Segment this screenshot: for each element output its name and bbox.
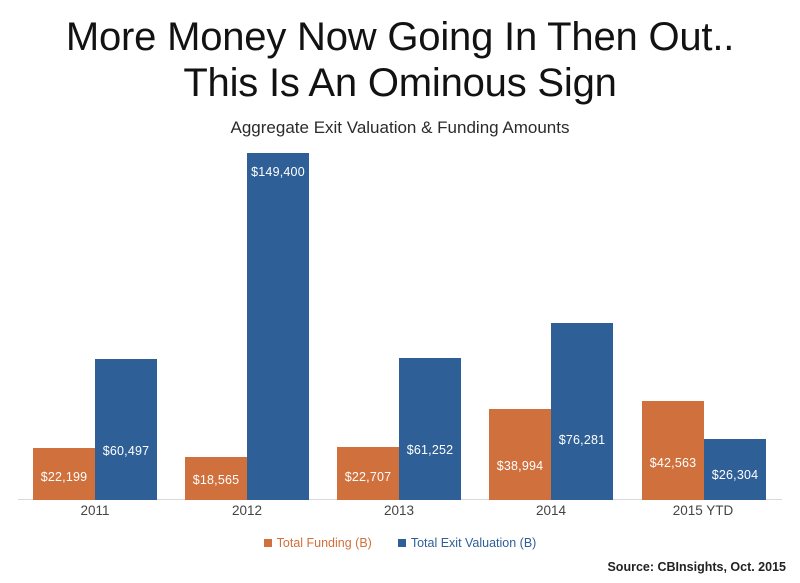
bar-group: $22,707$61,252 bbox=[337, 153, 461, 500]
bar-funding-2015-YTD[interactable]: $42,563 bbox=[642, 401, 704, 500]
bar-value-label: $38,994 bbox=[489, 459, 551, 473]
bar-value-label: $26,304 bbox=[704, 468, 766, 482]
legend-swatch-icon bbox=[398, 539, 406, 547]
x-axis-label-2014: 2014 bbox=[491, 503, 611, 518]
title-line-2: This Is An Ominous Sign bbox=[0, 60, 800, 106]
bar-funding-2014[interactable]: $38,994 bbox=[489, 409, 551, 500]
title-line-1: More Money Now Going In Then Out.. bbox=[0, 14, 800, 60]
bar-exit-2014[interactable]: $76,281 bbox=[551, 323, 613, 500]
bar-funding-2013[interactable]: $22,707 bbox=[337, 447, 399, 500]
legend-label: Total Funding (B) bbox=[277, 536, 372, 550]
bar-value-label: $22,707 bbox=[337, 470, 399, 484]
chart-subtitle: Aggregate Exit Valuation & Funding Amoun… bbox=[0, 118, 800, 138]
bar-funding-2011[interactable]: $22,199 bbox=[33, 448, 95, 500]
legend-label: Total Exit Valuation (B) bbox=[411, 536, 537, 550]
slide-canvas: More Money Now Going In Then Out.. This … bbox=[0, 0, 800, 583]
bar-exit-2015-YTD[interactable]: $26,304 bbox=[704, 439, 766, 500]
chart-title: More Money Now Going In Then Out.. This … bbox=[0, 14, 800, 106]
bar-exit-2011[interactable]: $60,497 bbox=[95, 359, 157, 500]
x-axis-category-labels: 20112012201320142015 YTD bbox=[0, 503, 800, 527]
chart-legend: Total Funding (B)Total Exit Valuation (B… bbox=[0, 536, 800, 550]
bar-group: $22,199$60,497 bbox=[33, 153, 157, 500]
bar-value-label: $22,199 bbox=[33, 470, 95, 484]
bar-value-label: $60,497 bbox=[95, 444, 157, 458]
source-note: Source: CBInsights, Oct. 2015 bbox=[607, 560, 786, 574]
legend-swatch-icon bbox=[264, 539, 272, 547]
bar-value-label: $61,252 bbox=[399, 443, 461, 457]
bar-group: $38,994$76,281 bbox=[489, 153, 613, 500]
bar-group: $42,563$26,304 bbox=[642, 153, 766, 500]
bar-group: $18,565$149,400 bbox=[185, 153, 309, 500]
x-axis-label-2011: 2011 bbox=[35, 503, 155, 518]
bar-value-label: $149,400 bbox=[247, 165, 309, 179]
bar-value-label: $42,563 bbox=[642, 456, 704, 470]
bar-funding-2012[interactable]: $18,565 bbox=[185, 457, 247, 500]
bar-value-label: $76,281 bbox=[551, 433, 613, 447]
legend-item-funding[interactable]: Total Funding (B) bbox=[264, 536, 372, 550]
legend-item-exit[interactable]: Total Exit Valuation (B) bbox=[398, 536, 537, 550]
x-axis-label-2015-YTD: 2015 YTD bbox=[643, 503, 763, 518]
bar-exit-2013[interactable]: $61,252 bbox=[399, 358, 461, 500]
bar-value-label: $18,565 bbox=[185, 473, 247, 487]
x-axis-label-2013: 2013 bbox=[339, 503, 459, 518]
bar-exit-2012[interactable]: $149,400 bbox=[247, 153, 309, 500]
x-axis-label-2012: 2012 bbox=[187, 503, 307, 518]
bar-chart-plot-area: $22,199$60,497$18,565$149,400$22,707$61,… bbox=[0, 150, 800, 500]
